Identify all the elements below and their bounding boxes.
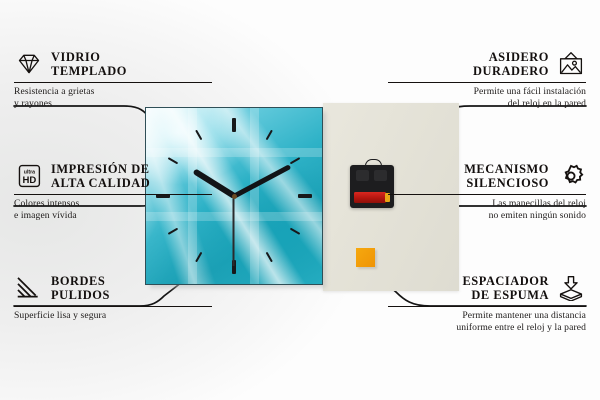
feature-divider bbox=[14, 194, 212, 195]
ultra-hd-badge-icon: ultra HD bbox=[14, 163, 44, 189]
feature-divider bbox=[14, 82, 212, 83]
feature-title: ESPACIADORDE ESPUMA bbox=[462, 274, 549, 303]
clock-center-cap bbox=[232, 194, 237, 199]
feature-description: Las manecillas del relojno emiten ningún… bbox=[388, 198, 586, 223]
feature-espaciador-de-espuma[interactable]: ESPACIADORDE ESPUMA Permite mantener una… bbox=[388, 274, 586, 334]
infographic-canvas: VIDRIOTEMPLADO Resistencia a grietasy ra… bbox=[0, 0, 600, 400]
feature-title: MECANISMOSILENCIOSO bbox=[464, 162, 549, 191]
feature-header: VIDRIOTEMPLADO bbox=[14, 50, 212, 79]
feature-divider bbox=[388, 82, 586, 83]
foam-spacer-piece[interactable] bbox=[356, 248, 375, 267]
feature-description: Permite una fácil instalacióndel reloj e… bbox=[388, 86, 586, 111]
feature-title: VIDRIOTEMPLADO bbox=[51, 50, 127, 79]
svg-text:HD: HD bbox=[23, 175, 37, 186]
feature-asidero-duradero[interactable]: ASIDERODURADERO Permite una fácil instal… bbox=[388, 50, 586, 110]
feature-header: ASIDERODURADERO bbox=[388, 50, 586, 79]
feature-description: Colores intensose imagen vívida bbox=[14, 198, 212, 223]
clock-minute-hand bbox=[233, 164, 291, 198]
glass-glare-v2 bbox=[250, 108, 259, 284]
glass-glare-h1 bbox=[146, 148, 322, 157]
diamond-icon bbox=[14, 51, 44, 77]
feature-description: Resistencia a grietasy rayones bbox=[14, 86, 212, 111]
feature-divider bbox=[14, 306, 212, 307]
gear-icon bbox=[556, 163, 586, 189]
feature-title: BORDESPULIDOS bbox=[51, 274, 110, 303]
feature-mecanismo-silencioso[interactable]: MECANISMOSILENCIOSO Las manecillas del r… bbox=[388, 162, 586, 222]
feature-header: BORDESPULIDOS bbox=[14, 274, 212, 303]
hanging-frame-icon bbox=[556, 51, 586, 77]
battery bbox=[354, 192, 386, 203]
feature-bordes-pulidos[interactable]: BORDESPULIDOS Superficie lisa y segura bbox=[14, 274, 212, 322]
feature-title: IMPRESIÓN DEALTA CALIDAD bbox=[51, 162, 150, 191]
feature-description: Superficie lisa y segura bbox=[14, 310, 212, 322]
feature-divider bbox=[388, 306, 586, 307]
foam-spacer-icon bbox=[556, 275, 586, 301]
feature-title: ASIDERODURADERO bbox=[473, 50, 549, 79]
feature-impresion-alta-calidad[interactable]: ultra HD IMPRESIÓN DEALTA CALIDAD Colore… bbox=[14, 162, 212, 222]
feature-header: MECANISMOSILENCIOSO bbox=[388, 162, 586, 191]
feature-divider bbox=[388, 194, 586, 195]
clock-second-hand bbox=[233, 196, 235, 266]
polished-edges-icon bbox=[14, 275, 44, 301]
feature-description: Permite mantener una distanciauniforme e… bbox=[388, 310, 586, 335]
feature-vidrio-templado[interactable]: VIDRIOTEMPLADO Resistencia a grietasy ra… bbox=[14, 50, 212, 110]
feature-header: ultra HD IMPRESIÓN DEALTA CALIDAD bbox=[14, 162, 212, 191]
feature-header: ESPACIADORDE ESPUMA bbox=[388, 274, 586, 303]
